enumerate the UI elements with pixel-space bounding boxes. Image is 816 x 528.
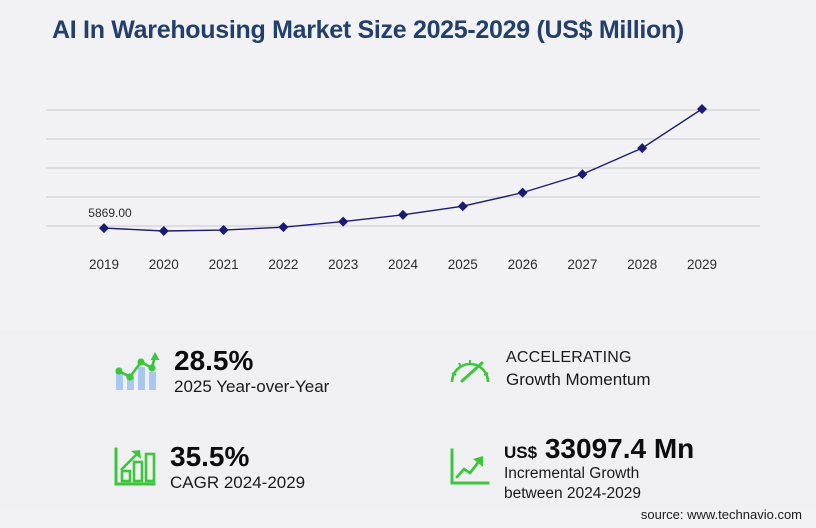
- stat-value-yoy: 28.5%: [174, 345, 329, 376]
- stat-headline-momentum: ACCELERATING: [506, 348, 651, 369]
- speedometer-icon: [448, 351, 492, 387]
- data-point-marker: [99, 223, 109, 233]
- data-point-marker: [577, 169, 587, 179]
- stat-caption-cagr: CAGR 2024-2029: [170, 472, 305, 493]
- x-axis-labels: 2019202020212022202320242025202620272028…: [89, 257, 717, 272]
- chart-gridlines: [46, 110, 760, 226]
- x-axis-tick-label: 2027: [567, 257, 597, 272]
- stat-year-over-year: 28.5% 2025 Year-over-Year: [112, 345, 329, 398]
- data-point-marker: [278, 222, 288, 232]
- data-point-marker: [637, 143, 647, 153]
- bar-chart-arrow-icon: [112, 446, 156, 488]
- stat-text-group: 35.5% CAGR 2024-2029: [170, 441, 305, 494]
- line-chart-arrow-icon: [448, 448, 490, 488]
- data-point-marker: [518, 188, 528, 198]
- data-point-marker: [458, 201, 468, 211]
- x-axis-tick-label: 2026: [508, 257, 538, 272]
- data-point-labels: 5869.00: [88, 206, 132, 220]
- chart-svg: 5869.00 20192020202120222023202420252026…: [0, 86, 816, 286]
- stat-caption-incremental-line1: Incremental Growth: [504, 464, 694, 483]
- x-axis-tick-label: 2020: [149, 257, 179, 272]
- x-axis-tick-label: 2019: [89, 257, 119, 272]
- data-point-marker: [219, 225, 229, 235]
- x-axis-tick-label: 2028: [627, 257, 657, 272]
- stat-text-group: ACCELERATING Growth Momentum: [506, 348, 651, 390]
- stat-text-group: 28.5% 2025 Year-over-Year: [174, 345, 329, 398]
- stat-amount-incremental: 33097.4 Mn: [545, 433, 694, 464]
- stat-caption-incremental-line2: between 2024-2029: [504, 484, 694, 503]
- x-axis-tick-label: 2022: [268, 257, 298, 272]
- stat-value-cagr: 35.5%: [170, 441, 305, 472]
- page-title: AI In Warehousing Market Size 2025-2029 …: [52, 16, 684, 45]
- data-point-marker: [159, 226, 169, 236]
- series-markers: [99, 104, 707, 236]
- stat-unit-prefix: US$: [504, 443, 537, 462]
- data-point-label: 5869.00: [88, 206, 132, 220]
- source-note: source: www.technavio.com: [641, 507, 802, 522]
- stat-incremental-growth: US$ 33097.4 Mn Incremental Growth betwee…: [448, 433, 694, 503]
- data-point-marker: [338, 217, 348, 227]
- stat-growth-momentum: ACCELERATING Growth Momentum: [448, 348, 651, 390]
- stat-cagr: 35.5% CAGR 2024-2029: [112, 441, 305, 494]
- stat-caption-yoy: 2025 Year-over-Year: [174, 376, 329, 397]
- stat-caption-momentum: Growth Momentum: [506, 369, 651, 390]
- x-axis-tick-label: 2029: [687, 257, 717, 272]
- x-axis-tick-label: 2023: [328, 257, 358, 272]
- line-chart: 5869.00 20192020202120222023202420252026…: [0, 86, 816, 286]
- stat-value-incremental: US$ 33097.4 Mn: [504, 433, 694, 464]
- stat-text-group: US$ 33097.4 Mn Incremental Growth betwee…: [504, 433, 694, 503]
- data-point-marker: [398, 210, 408, 220]
- data-point-marker: [697, 104, 707, 114]
- x-axis-tick-label: 2024: [388, 257, 419, 272]
- x-axis-tick-label: 2025: [448, 257, 478, 272]
- bar-chart-trend-icon: [112, 349, 160, 393]
- x-axis-tick-label: 2021: [209, 257, 239, 272]
